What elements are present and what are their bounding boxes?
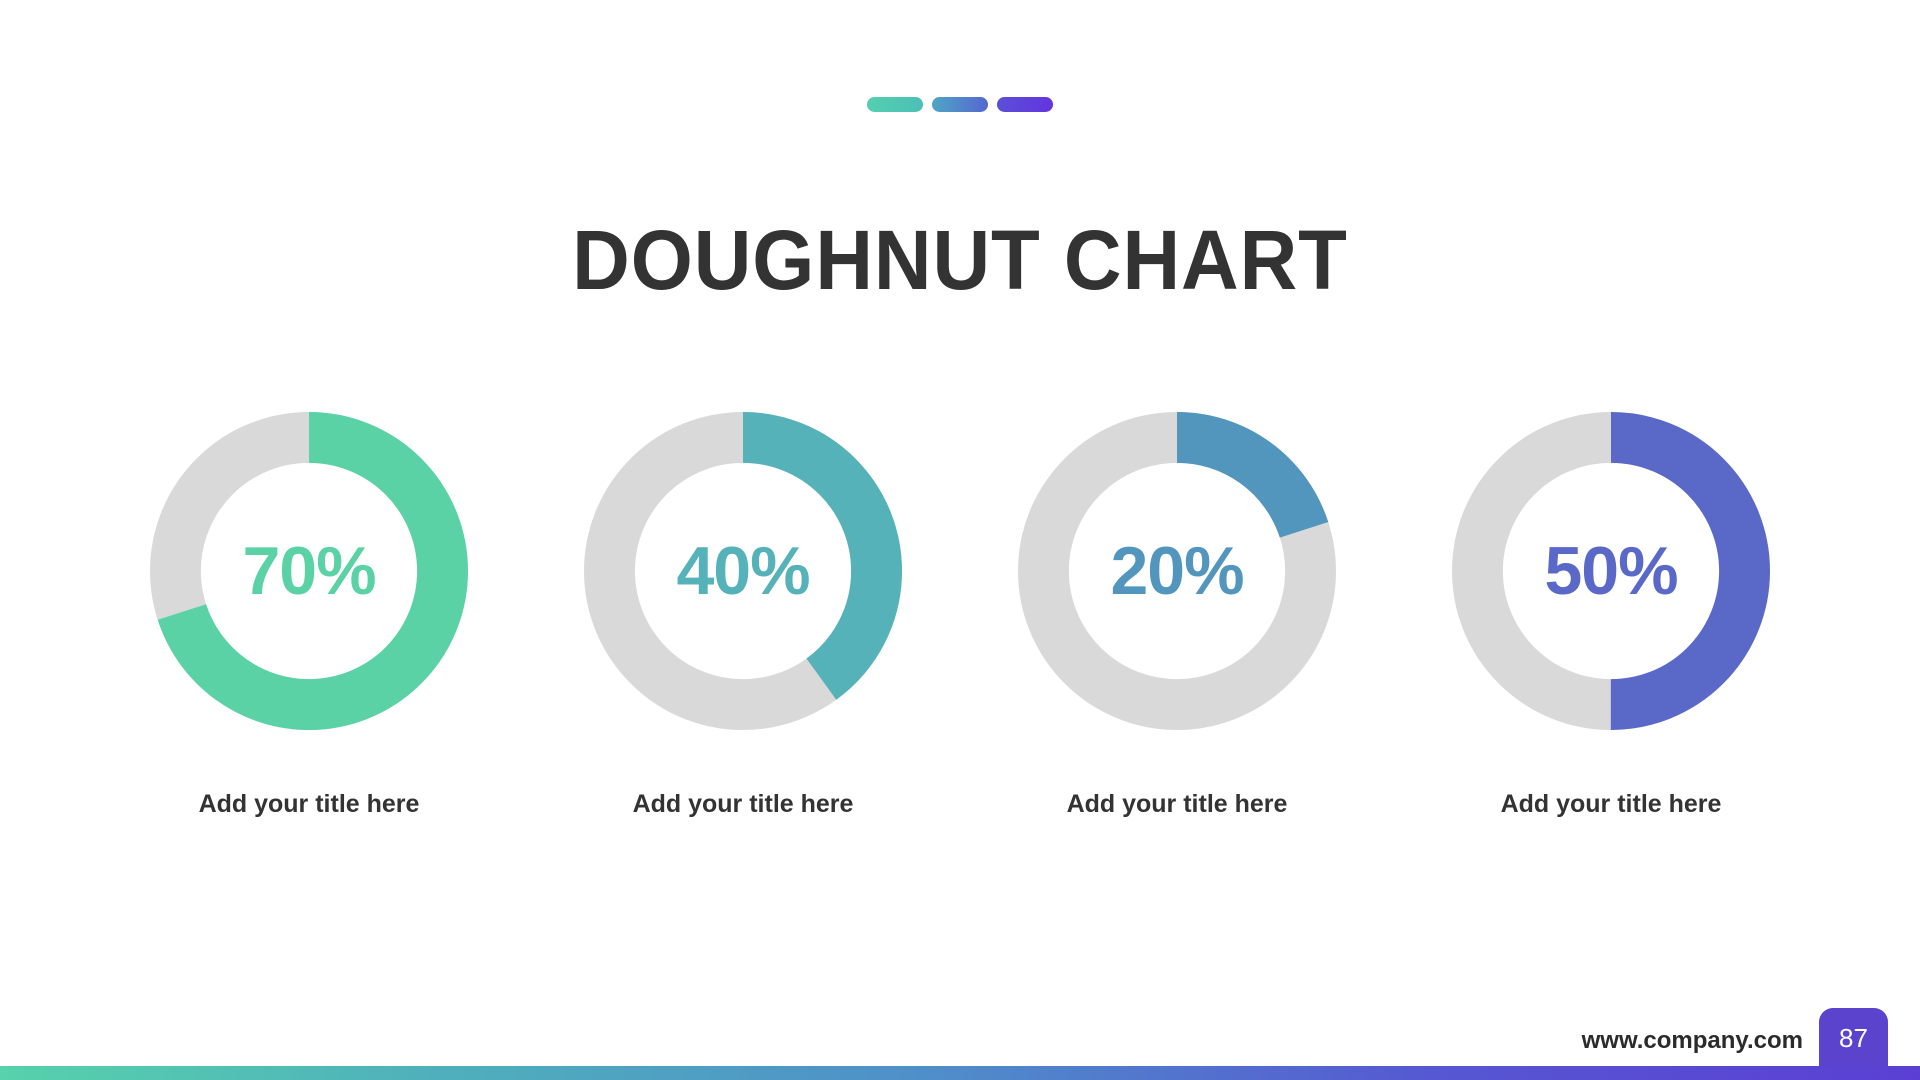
doughnut-chart-2[interactable]: 40% Add your title here — [584, 412, 902, 819]
footer-website-url[interactable]: www.company.com — [1582, 1027, 1803, 1055]
doughnut-ring-3: 20% — [1018, 412, 1336, 730]
doughnut-chart-row: 70% Add your title here 40% Add your tit… — [0, 412, 1920, 819]
decorative-bar — [0, 97, 1920, 112]
page-title: DOUGHNUT CHART — [48, 218, 1872, 302]
doughnut-chart-1[interactable]: 70% Add your title here — [150, 412, 468, 819]
doughnut-caption-4: Add your title here — [1501, 790, 1722, 819]
doughnut-ring-1: 70% — [150, 412, 468, 730]
doughnut-chart-3[interactable]: 20% Add your title here — [1018, 412, 1336, 819]
decor-segment-blue-icon — [932, 97, 988, 112]
doughnut-svg-2 — [584, 412, 902, 730]
doughnut-ring-2: 40% — [584, 412, 902, 730]
decor-segment-purple-icon — [997, 97, 1053, 112]
doughnut-caption-3: Add your title here — [1067, 790, 1288, 819]
doughnut-svg-1 — [150, 412, 468, 730]
doughnut-chart-4[interactable]: 50% Add your title here — [1452, 412, 1770, 819]
doughnut-caption-2: Add your title here — [633, 790, 854, 819]
doughnut-ring-4: 50% — [1452, 412, 1770, 730]
doughnut-svg-3 — [1018, 412, 1336, 730]
doughnut-svg-4 — [1452, 412, 1770, 730]
doughnut-caption-1: Add your title here — [199, 790, 420, 819]
bottom-gradient-bar — [0, 1066, 1920, 1080]
decor-segment-teal-icon — [867, 97, 923, 112]
